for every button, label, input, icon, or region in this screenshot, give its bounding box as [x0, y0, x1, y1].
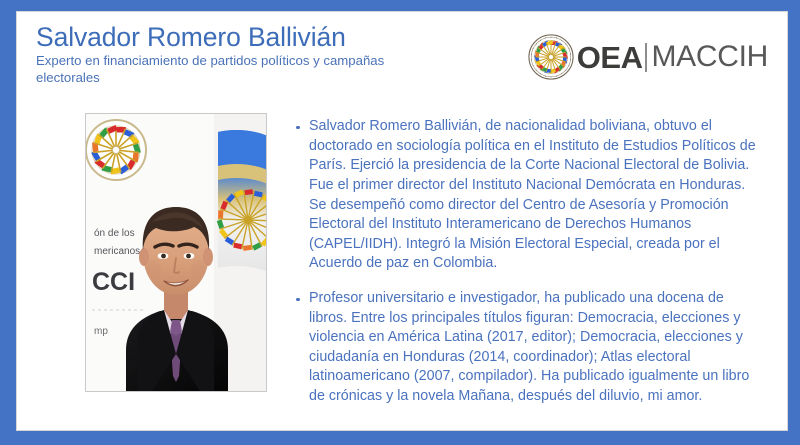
svg-text:CCI: CCI: [92, 268, 135, 296]
bio-text-column: Salvador Romero Ballivián, de nacionalid…: [294, 103, 762, 407]
logo-oea-text: OEA: [577, 42, 643, 73]
logo-maccih-text: MACCIH: [651, 42, 768, 72]
svg-text:mp: mp: [94, 326, 108, 337]
title-block: Salvador Romero Ballivián Experto en fin…: [36, 22, 466, 86]
svg-text:ón de los: ón de los: [94, 228, 135, 239]
oea-maccih-wordmark: OEA MACCIH: [577, 42, 768, 73]
portrait-photo: ón de los mericanos CCI mp: [85, 113, 267, 392]
svg-text:mericanos: mericanos: [94, 246, 140, 257]
logo-separator: [645, 43, 647, 72]
page-title: Salvador Romero Ballivián: [36, 22, 466, 52]
bio-bullet-1: Salvador Romero Ballivián, de nacionalid…: [294, 117, 762, 274]
bio-bullet-2: Profesor universitario e investigador, h…: [294, 289, 762, 407]
portrait-photo-image: ón de los mericanos CCI mp: [86, 114, 266, 391]
slide-frame: Salvador Romero Ballivián Experto en fin…: [0, 0, 800, 445]
oea-maccih-logo: OEA MACCIH: [528, 34, 768, 80]
slide-header: Salvador Romero Ballivián Experto en fin…: [17, 12, 787, 96]
slide-body: ón de los mericanos CCI mp: [17, 96, 787, 430]
page-subtitle: Experto en financiamiento de partidos po…: [36, 53, 431, 86]
slide-canvas: Salvador Romero Ballivián Experto en fin…: [16, 11, 788, 431]
oea-seal-icon: [528, 34, 574, 80]
